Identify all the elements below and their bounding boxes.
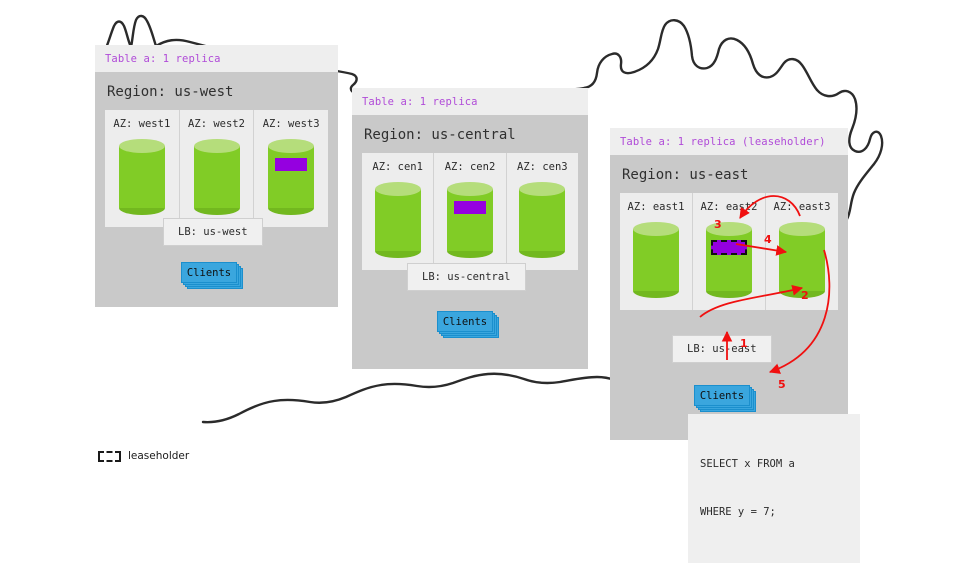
dashed-rectangle-icon bbox=[98, 451, 121, 462]
panel-header-us-west: Table a: 1 replica bbox=[95, 45, 338, 72]
az-cell-west3[interactable]: AZ: west3 bbox=[253, 110, 328, 227]
region-panel-us-west: Table a: 1 replica Region: us-west AZ: w… bbox=[95, 45, 338, 307]
panel-body-us-east: Region: us-east AZ: east1 AZ: east2 bbox=[610, 155, 848, 440]
az-cell-east2[interactable]: AZ: east2 bbox=[692, 193, 765, 310]
panel-body-us-central: Region: us-central AZ: cen1 AZ: cen2 bbox=[352, 115, 588, 369]
step-number-2: 2 bbox=[801, 289, 809, 302]
step-number-4: 4 bbox=[764, 233, 772, 246]
az-cell-west1[interactable]: AZ: west1 bbox=[105, 110, 179, 227]
leaseholder-chip-east2 bbox=[711, 240, 747, 255]
sql-callout: SELECT x FROM a WHERE y = 7; bbox=[688, 414, 860, 563]
clients-us-east[interactable]: Clients bbox=[694, 385, 756, 410]
az-label: AZ: east3 bbox=[772, 201, 832, 213]
panel-body-us-west: Region: us-west AZ: west1 AZ: west2 bbox=[95, 72, 338, 307]
az-row-us-central: AZ: cen1 AZ: cen2 bbox=[362, 153, 578, 270]
sql-line-1: SELECT x FROM a bbox=[700, 456, 848, 472]
az-label: AZ: cen2 bbox=[440, 161, 499, 173]
cylinder-west1 bbox=[111, 139, 173, 215]
region-panel-us-central: Table a: 1 replica Region: us-central AZ… bbox=[352, 88, 588, 369]
cylinder-east3 bbox=[772, 222, 832, 298]
panel-header-us-central: Table a: 1 replica bbox=[352, 88, 588, 115]
az-cell-west2[interactable]: AZ: west2 bbox=[179, 110, 254, 227]
replica-chip-cen2 bbox=[454, 201, 486, 214]
step-number-3: 3 bbox=[714, 218, 722, 231]
lb-box-us-central[interactable]: LB: us-central bbox=[407, 263, 526, 291]
cylinder-west3 bbox=[260, 139, 322, 215]
az-label: AZ: west3 bbox=[260, 118, 322, 130]
diagram-canvas: Table a: 1 replica Region: us-west AZ: w… bbox=[0, 0, 960, 540]
legend: leaseholder bbox=[98, 450, 189, 462]
lb-box-us-east[interactable]: LB: us-east bbox=[672, 335, 772, 363]
az-cell-cen2[interactable]: AZ: cen2 bbox=[433, 153, 505, 270]
az-label: AZ: cen1 bbox=[368, 161, 427, 173]
az-cell-cen1[interactable]: AZ: cen1 bbox=[362, 153, 433, 270]
lb-box-us-west[interactable]: LB: us-west bbox=[163, 218, 263, 246]
cylinder-east2 bbox=[699, 222, 759, 298]
step-number-1: 1 bbox=[740, 337, 748, 350]
region-title-us-east: Region: us-east bbox=[622, 167, 836, 183]
az-label: AZ: east2 bbox=[699, 201, 759, 213]
region-panel-us-east: Table a: 1 replica (leaseholder) Region:… bbox=[610, 128, 848, 440]
region-title-us-west: Region: us-west bbox=[107, 84, 326, 100]
clients-us-west[interactable]: Clients bbox=[181, 262, 243, 287]
az-label: AZ: west2 bbox=[186, 118, 248, 130]
sql-line-2: WHERE y = 7; bbox=[700, 504, 848, 520]
legend-label: leaseholder bbox=[128, 450, 189, 462]
az-cell-cen3[interactable]: AZ: cen3 bbox=[506, 153, 578, 270]
clients-label: Clients bbox=[181, 262, 237, 283]
cylinder-cen1 bbox=[368, 182, 427, 258]
cylinder-east1 bbox=[626, 222, 686, 298]
panel-header-us-east: Table a: 1 replica (leaseholder) bbox=[610, 128, 848, 155]
az-cell-east1[interactable]: AZ: east1 bbox=[620, 193, 692, 310]
az-label: AZ: east1 bbox=[626, 201, 686, 213]
step-number-5: 5 bbox=[778, 378, 786, 391]
region-title-us-central: Region: us-central bbox=[364, 127, 576, 143]
cylinder-cen2 bbox=[440, 182, 499, 258]
az-row-us-west: AZ: west1 AZ: west2 bbox=[105, 110, 328, 227]
az-label: AZ: west1 bbox=[111, 118, 173, 130]
clients-label: Clients bbox=[437, 311, 493, 332]
replica-chip-west3 bbox=[275, 158, 307, 171]
cylinder-west2 bbox=[186, 139, 248, 215]
cylinder-cen3 bbox=[513, 182, 572, 258]
az-label: AZ: cen3 bbox=[513, 161, 572, 173]
clients-label: Clients bbox=[694, 385, 750, 406]
clients-us-central[interactable]: Clients bbox=[437, 311, 499, 336]
